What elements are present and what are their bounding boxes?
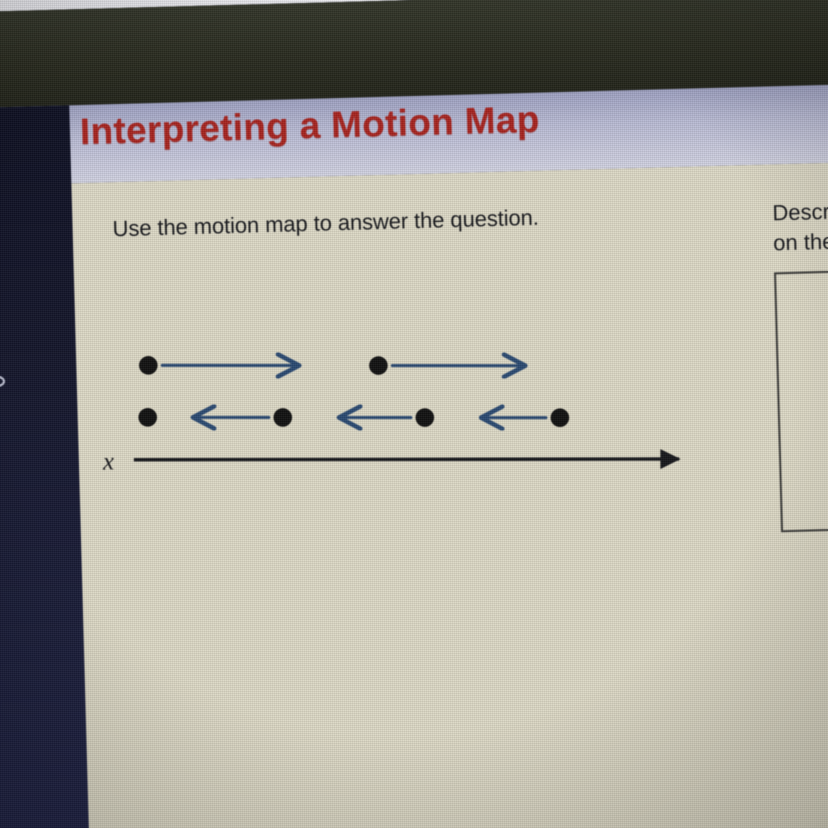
motion-dot [550,408,569,427]
screen-photograph: Schoology Physics | OpenStax Interpretin… [0,0,828,828]
worksheet-content-area: Use the motion map to answer the questio… [71,162,828,828]
velocity-arrow [482,416,546,420]
velocity-arrow [194,415,269,419]
question-line-1: Describe [772,191,828,228]
answer-textbox[interactable] [774,266,828,532]
motion-map-svg [75,315,760,533]
sidebar-item-atom[interactable] [0,357,13,406]
instruction-text: Use the motion map to answer the questio… [112,205,539,243]
tilted-screen-content: Schoology Physics | OpenStax Interpretin… [0,0,828,828]
motion-dot [138,408,157,427]
motion-map-diagram: x [75,315,760,533]
motion-dot [369,356,388,375]
x-axis-line [134,445,679,474]
motion-dot [415,408,434,427]
sidebar-item-calculator[interactable] [0,255,11,304]
x-axis-label: x [103,448,115,476]
question-panel: Describe on the m [772,191,828,532]
motion-dot [273,408,292,427]
velocity-arrow [392,362,524,369]
velocity-arrow [162,362,298,369]
calculator-icon [0,260,5,299]
atom-icon [0,361,9,402]
padlock-icon [0,157,4,198]
sidebar-item-lock[interactable] [0,153,8,202]
velocity-arrow [340,416,411,420]
motion-dot [139,356,158,375]
